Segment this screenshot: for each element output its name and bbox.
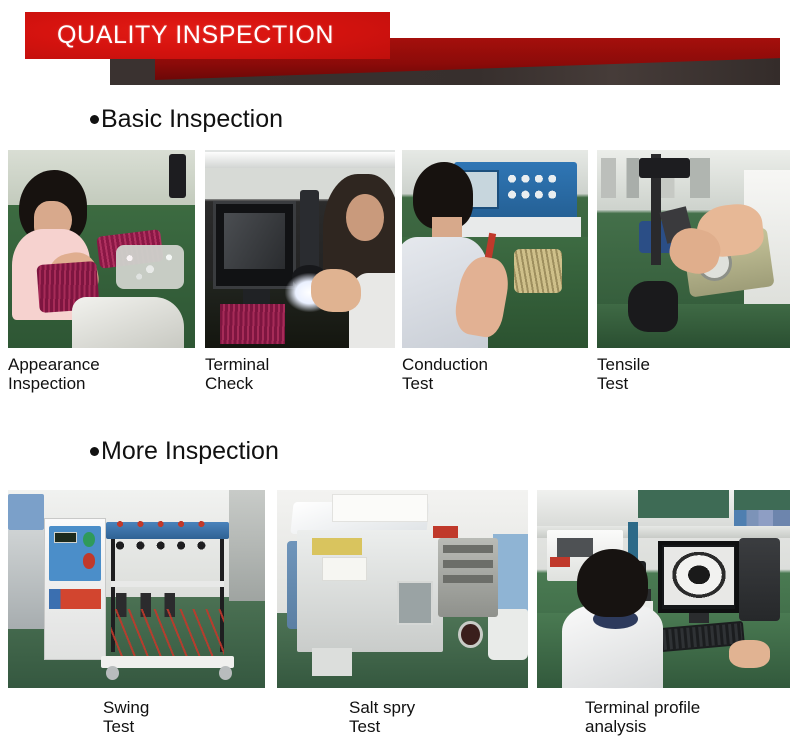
banner-red-box: QUALITY INSPECTION bbox=[25, 12, 390, 59]
bullet-dot-icon bbox=[90, 115, 99, 124]
photo-appearance-inspection bbox=[8, 150, 195, 348]
caption-salt-spry-test: Salt spry Test bbox=[349, 698, 415, 736]
inspection-tile-terminal-profile-analysis: Terminal profile analysis bbox=[537, 490, 790, 705]
photo-terminal-profile-analysis bbox=[537, 490, 790, 688]
photo-terminal-check bbox=[205, 150, 395, 348]
photo-salt-spray-test bbox=[277, 490, 528, 688]
page-header-banner: QUALITY INSPECTION bbox=[0, 0, 800, 92]
section-heading-basic: Basic Inspection bbox=[90, 105, 283, 134]
caption-appearance-inspection: Appearance Inspection bbox=[8, 355, 100, 393]
caption-swing-test: Swing Test bbox=[103, 698, 149, 736]
section-heading-basic-label: Basic Inspection bbox=[101, 105, 283, 134]
bullet-dot-icon bbox=[90, 447, 99, 456]
photo-conduction-test bbox=[402, 150, 588, 348]
photo-tensile-test bbox=[597, 150, 790, 348]
caption-terminal-check: Terminal Check bbox=[205, 355, 269, 393]
section-heading-more: More Inspection bbox=[90, 437, 279, 466]
caption-tensile-test: Tensile Test bbox=[597, 355, 650, 393]
section-heading-more-label: More Inspection bbox=[101, 437, 279, 466]
page-title: QUALITY INSPECTION bbox=[57, 21, 334, 50]
inspection-tile-tensile-test: Tensile Test bbox=[597, 150, 790, 365]
inspection-tile-salt-spry-test: Salt spry Test bbox=[277, 490, 528, 705]
inspection-tile-terminal-check: Terminal Check bbox=[205, 150, 395, 365]
caption-terminal-profile-analysis: Terminal profile analysis bbox=[585, 698, 700, 736]
caption-conduction-test: Conduction Test bbox=[402, 355, 488, 393]
inspection-tile-conduction-test: Conduction Test bbox=[402, 150, 588, 365]
photo-swing-test bbox=[8, 490, 265, 688]
inspection-tile-swing-test: Swing Test bbox=[8, 490, 265, 705]
inspection-tile-appearance: Appearance Inspection bbox=[8, 150, 195, 365]
